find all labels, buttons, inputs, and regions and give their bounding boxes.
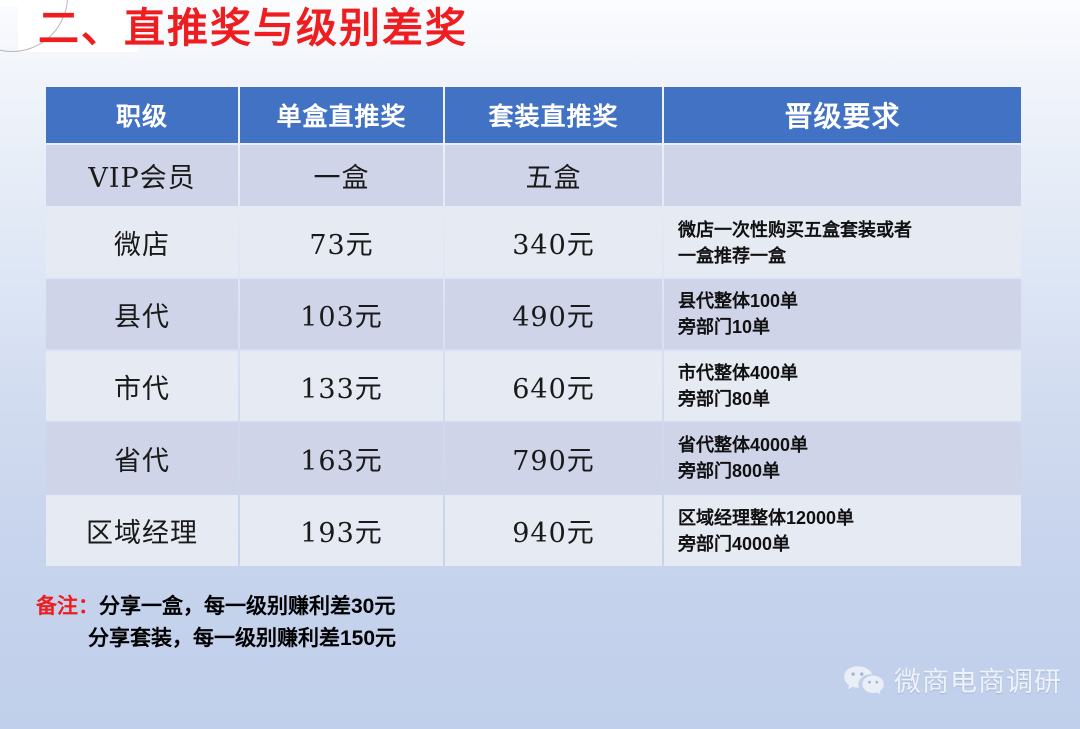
table-header: 职级 单盒直推奖 套装直推奖 晋级要求 xyxy=(46,87,1021,143)
column-header-promotion-requirement: 晋级要求 xyxy=(664,87,1021,143)
table-row: 县代 103元 490元 县代整体100单 旁部门10单 xyxy=(46,279,1021,349)
footnote-line-1: 分享一盒，每一级别赚利差30元 xyxy=(99,595,395,618)
requirement-line-1: 微店一次性购买五盒套装或者 xyxy=(678,217,1013,243)
column-header-set-bonus: 套装直推奖 xyxy=(445,87,662,143)
table-header-row: 职级 单盒直推奖 套装直推奖 晋级要求 xyxy=(46,87,1021,143)
requirement-line-1: 区域经理整体12000单 xyxy=(678,505,1013,531)
cell-set-bonus: 640元 xyxy=(445,351,662,421)
footnote: 备注：分享一盒，每一级别赚利差30元 分享套装，每一级别赚利差150元 xyxy=(36,591,396,655)
cell-single-box-bonus: 163元 xyxy=(240,423,443,493)
table-row: 市代 133元 640元 市代整体400单 旁部门80单 xyxy=(46,351,1021,421)
column-header-single-box-bonus: 单盒直推奖 xyxy=(240,87,443,143)
requirement-line-1: 省代整体4000单 xyxy=(678,432,1013,458)
table-row: 区域经理 193元 940元 区域经理整体12000单 旁部门4000单 xyxy=(46,495,1021,566)
cell-set-bonus: 940元 xyxy=(445,495,662,566)
watermark-text: 微商电商调研 xyxy=(894,660,1062,699)
table-body: VIP会员 一盒 五盒 微店 73元 340元 微店一次性购买五盒套装或者 一盒… xyxy=(46,145,1021,566)
requirement-line-2: 旁部门80单 xyxy=(678,386,1013,412)
cell-single-box-bonus: 73元 xyxy=(240,208,443,277)
cell-set-bonus: 790元 xyxy=(445,423,662,493)
cell-rank: 微店 xyxy=(46,208,238,277)
page-title: 二、直推奖与级别差奖 xyxy=(38,2,468,54)
requirement-line-2: 旁部门10单 xyxy=(678,314,1013,340)
cell-promotion-requirement: 县代整体100单 旁部门10单 xyxy=(664,279,1021,349)
requirement-line-2: 旁部门4000单 xyxy=(678,531,1013,557)
corner-white-shape-secondary xyxy=(0,0,20,6)
cell-single-box-bonus: 103元 xyxy=(240,279,443,349)
cell-set-bonus: 五盒 xyxy=(445,145,662,206)
wechat-watermark: 微商电商调研 xyxy=(843,660,1062,699)
cell-set-bonus: 340元 xyxy=(445,208,662,277)
cell-promotion-requirement: 微店一次性购买五盒套装或者 一盒推荐一盒 xyxy=(664,208,1021,277)
cell-single-box-bonus: 193元 xyxy=(240,495,443,566)
cell-promotion-requirement: 区域经理整体12000单 旁部门4000单 xyxy=(664,495,1021,566)
wechat-icon xyxy=(843,665,885,695)
cell-rank: 市代 xyxy=(46,351,238,421)
cell-rank: 区域经理 xyxy=(46,495,238,566)
column-header-rank: 职级 xyxy=(46,87,238,143)
bonus-structure-table: 职级 单盒直推奖 套装直推奖 晋级要求 VIP会员 一盒 五盒 微店 73元 3… xyxy=(44,85,1023,568)
requirement-line-1: 市代整体400单 xyxy=(678,360,1013,386)
footnote-line-2: 分享套装，每一级别赚利差150元 xyxy=(36,623,396,655)
requirement-line-2: 旁部门800单 xyxy=(678,458,1013,484)
cell-rank: 省代 xyxy=(46,423,238,493)
table-row: 省代 163元 790元 省代整体4000单 旁部门800单 xyxy=(46,423,1021,493)
cell-promotion-requirement: 市代整体400单 旁部门80单 xyxy=(664,351,1021,421)
cell-promotion-requirement: 省代整体4000单 旁部门800单 xyxy=(664,423,1021,493)
table-row: 微店 73元 340元 微店一次性购买五盒套装或者 一盒推荐一盒 xyxy=(46,208,1021,277)
cell-promotion-requirement xyxy=(664,145,1021,206)
requirement-line-1: 县代整体100单 xyxy=(678,288,1013,314)
footnote-label: 备注： xyxy=(36,595,99,618)
cell-single-box-bonus: 133元 xyxy=(240,351,443,421)
table-row: VIP会员 一盒 五盒 xyxy=(46,145,1021,206)
cell-rank: 县代 xyxy=(46,279,238,349)
requirement-line-2: 一盒推荐一盒 xyxy=(678,243,1013,269)
cell-single-box-bonus: 一盒 xyxy=(240,145,443,206)
cell-set-bonus: 490元 xyxy=(445,279,662,349)
cell-rank: VIP会员 xyxy=(46,145,238,206)
